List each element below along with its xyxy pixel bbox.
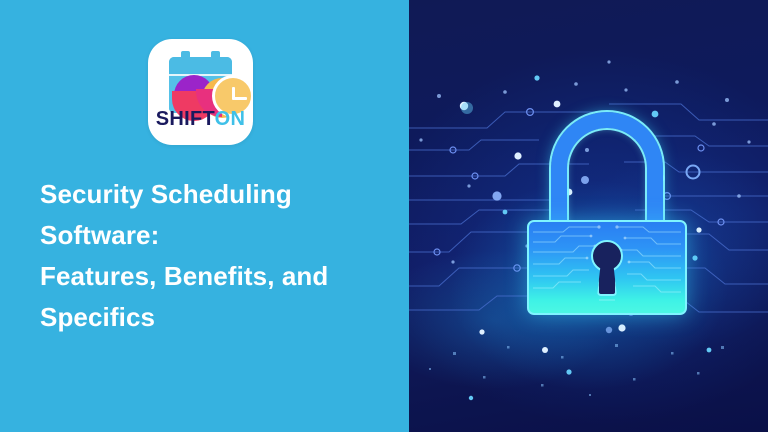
page-title: Security Scheduling Software: Features, … (40, 174, 390, 338)
clock-hand-minute (234, 97, 247, 100)
logo-wordmark-shift: SHIFT (156, 108, 215, 130)
headline-line-2: Software: (40, 215, 390, 256)
left-content-panel: SHIFTON Security Scheduling Software: Fe… (0, 0, 409, 432)
logo-wordmark: SHIFTON (148, 109, 253, 129)
headline-line-4: Specifics (40, 297, 390, 338)
banner-image: SHIFTON Security Scheduling Software: Fe… (0, 0, 768, 432)
logo-wordmark-on: ON (215, 108, 246, 130)
headline-line-3: Features, Benefits, and (40, 256, 390, 297)
padlock-body (527, 220, 687, 315)
shifton-logo: SHIFTON (148, 39, 253, 145)
calendar-header (169, 57, 232, 73)
calendar-clock-icon (166, 51, 235, 113)
logo-inner: SHIFTON (148, 39, 253, 145)
security-illustration-panel (409, 0, 768, 432)
padlock-icon (527, 112, 687, 317)
headline-line-1: Security Scheduling (40, 174, 390, 215)
